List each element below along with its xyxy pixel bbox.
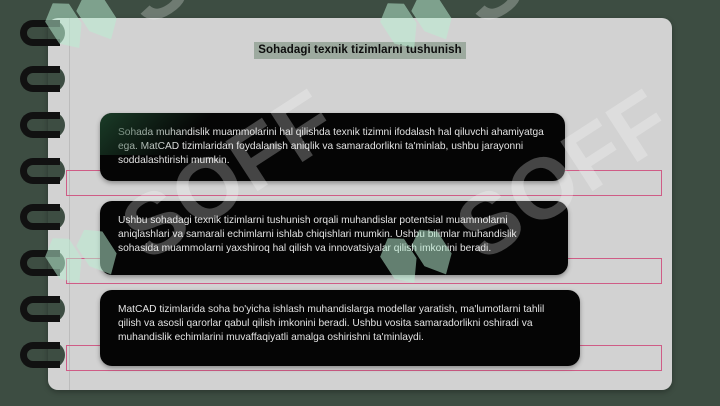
binding-ring [20,112,60,138]
spiral-binding [14,10,74,398]
binding-ring [20,250,60,276]
binding-ring [20,342,60,368]
binding-ring [20,204,60,230]
binding-ring [20,296,60,322]
slide-stage: Sohadagi texnik tizimlarni tushunish Soh… [0,0,720,406]
page-title-text: Sohadagi texnik tizimlarni tushunish [254,42,466,59]
page-title: Sohadagi texnik tizimlarni tushunish [0,40,720,59]
text-card-2: Ushbu sohadagi texnik tizimlarni tushuni… [100,201,568,275]
text-card-3-body: MatCAD tizimlarida soha bo'yicha ishlash… [118,303,564,346]
text-card-2-body: Ushbu sohadagi texnik tizimlarni tushuni… [118,214,552,257]
text-card-3: MatCAD tizimlarida soha bo'yicha ishlash… [100,290,580,366]
binding-ring [20,66,60,92]
text-card-1: Sohada muhandislik muammolarini hal qili… [100,113,565,181]
text-card-1-body: Sohada muhandislik muammolarini hal qili… [118,126,549,169]
binding-ring [20,158,60,184]
